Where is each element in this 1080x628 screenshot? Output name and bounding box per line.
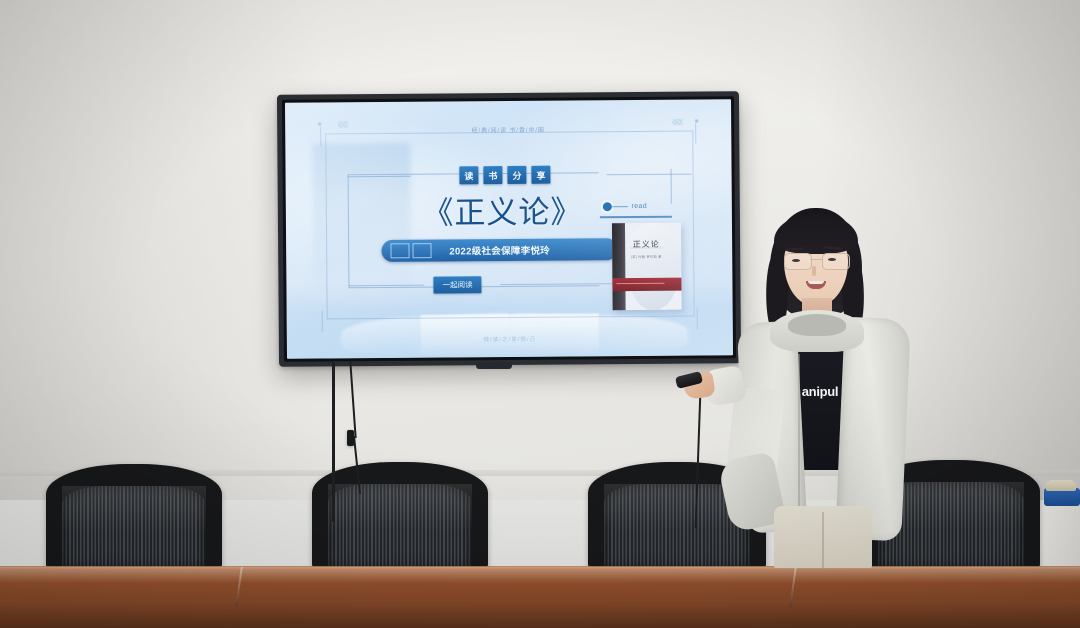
slide-subtitle-bar: 2022级社会保障李悦玲 bbox=[381, 238, 618, 262]
subtitle-ghost-boxes bbox=[391, 243, 432, 258]
read-label: read bbox=[631, 203, 647, 210]
slide-badge: 书 bbox=[483, 166, 502, 184]
book-spine bbox=[612, 223, 626, 310]
read-dot-icon bbox=[602, 203, 611, 212]
corner-dot-top-left-icon bbox=[319, 123, 322, 126]
wall-shadow-left bbox=[0, 0, 320, 500]
chair[interactable] bbox=[312, 462, 488, 572]
tshirt-text: anipul bbox=[784, 384, 856, 399]
hoodie-hood-inner bbox=[788, 314, 846, 336]
table-sheen bbox=[0, 567, 1080, 583]
trouser-seam bbox=[822, 512, 824, 568]
slide-badge: 享 bbox=[531, 166, 550, 184]
tv-power-cable bbox=[332, 362, 335, 522]
slide-low-badge: 一起阅读 bbox=[434, 277, 482, 294]
slide-subtitle: 2022级社会保障李悦玲 bbox=[449, 243, 550, 258]
slide-badge: 分 bbox=[507, 166, 526, 184]
meeting-room-photo: 《《《《 《《《《 经/典/阅/读 书/香/中/国 读 书 分 享 《正义论》 … bbox=[0, 0, 1080, 628]
hoodie-zipper bbox=[798, 354, 800, 520]
wall-mounted-tv[interactable]: 《《《《 《《《《 经/典/阅/读 书/香/中/国 读 书 分 享 《正义论》 … bbox=[277, 91, 741, 367]
book-cover-subtitle: [美] 约翰·罗尔斯 著 bbox=[619, 254, 674, 259]
tv-bottom-sensor bbox=[476, 362, 512, 369]
corner-tick-bottom-left bbox=[322, 311, 323, 333]
object-on-box bbox=[1046, 480, 1076, 491]
slide-badge: 读 bbox=[459, 167, 478, 185]
side-table bbox=[1040, 500, 1080, 570]
tv-screen: 《《《《 《《《《 经/典/阅/读 书/香/中/国 读 书 分 享 《正义论》 … bbox=[285, 99, 733, 358]
table-front-face bbox=[0, 600, 1080, 628]
presentation-slide: 《《《《 《《《《 经/典/阅/读 书/香/中/国 读 书 分 享 《正义论》 … bbox=[285, 99, 733, 358]
glasses-icon bbox=[782, 253, 850, 268]
read-line bbox=[611, 206, 627, 207]
book-cover-image: 正义论 [美] 约翰·罗尔斯 著 bbox=[612, 223, 682, 311]
book-cover-face bbox=[625, 223, 681, 310]
book-cover-band bbox=[612, 277, 681, 291]
corner-tick-bottom-right bbox=[696, 308, 697, 330]
slide-title: 《正义论》 bbox=[422, 186, 582, 232]
presenter: anipul bbox=[718, 206, 908, 568]
chair[interactable] bbox=[46, 464, 222, 572]
slide-badge-row: 读 书 分 享 bbox=[459, 166, 550, 185]
book-cover-title: 正义论 bbox=[612, 238, 681, 250]
read-marker: read bbox=[602, 202, 647, 211]
cable-dongle bbox=[347, 430, 354, 446]
corner-dot-top-right-icon bbox=[695, 120, 698, 123]
